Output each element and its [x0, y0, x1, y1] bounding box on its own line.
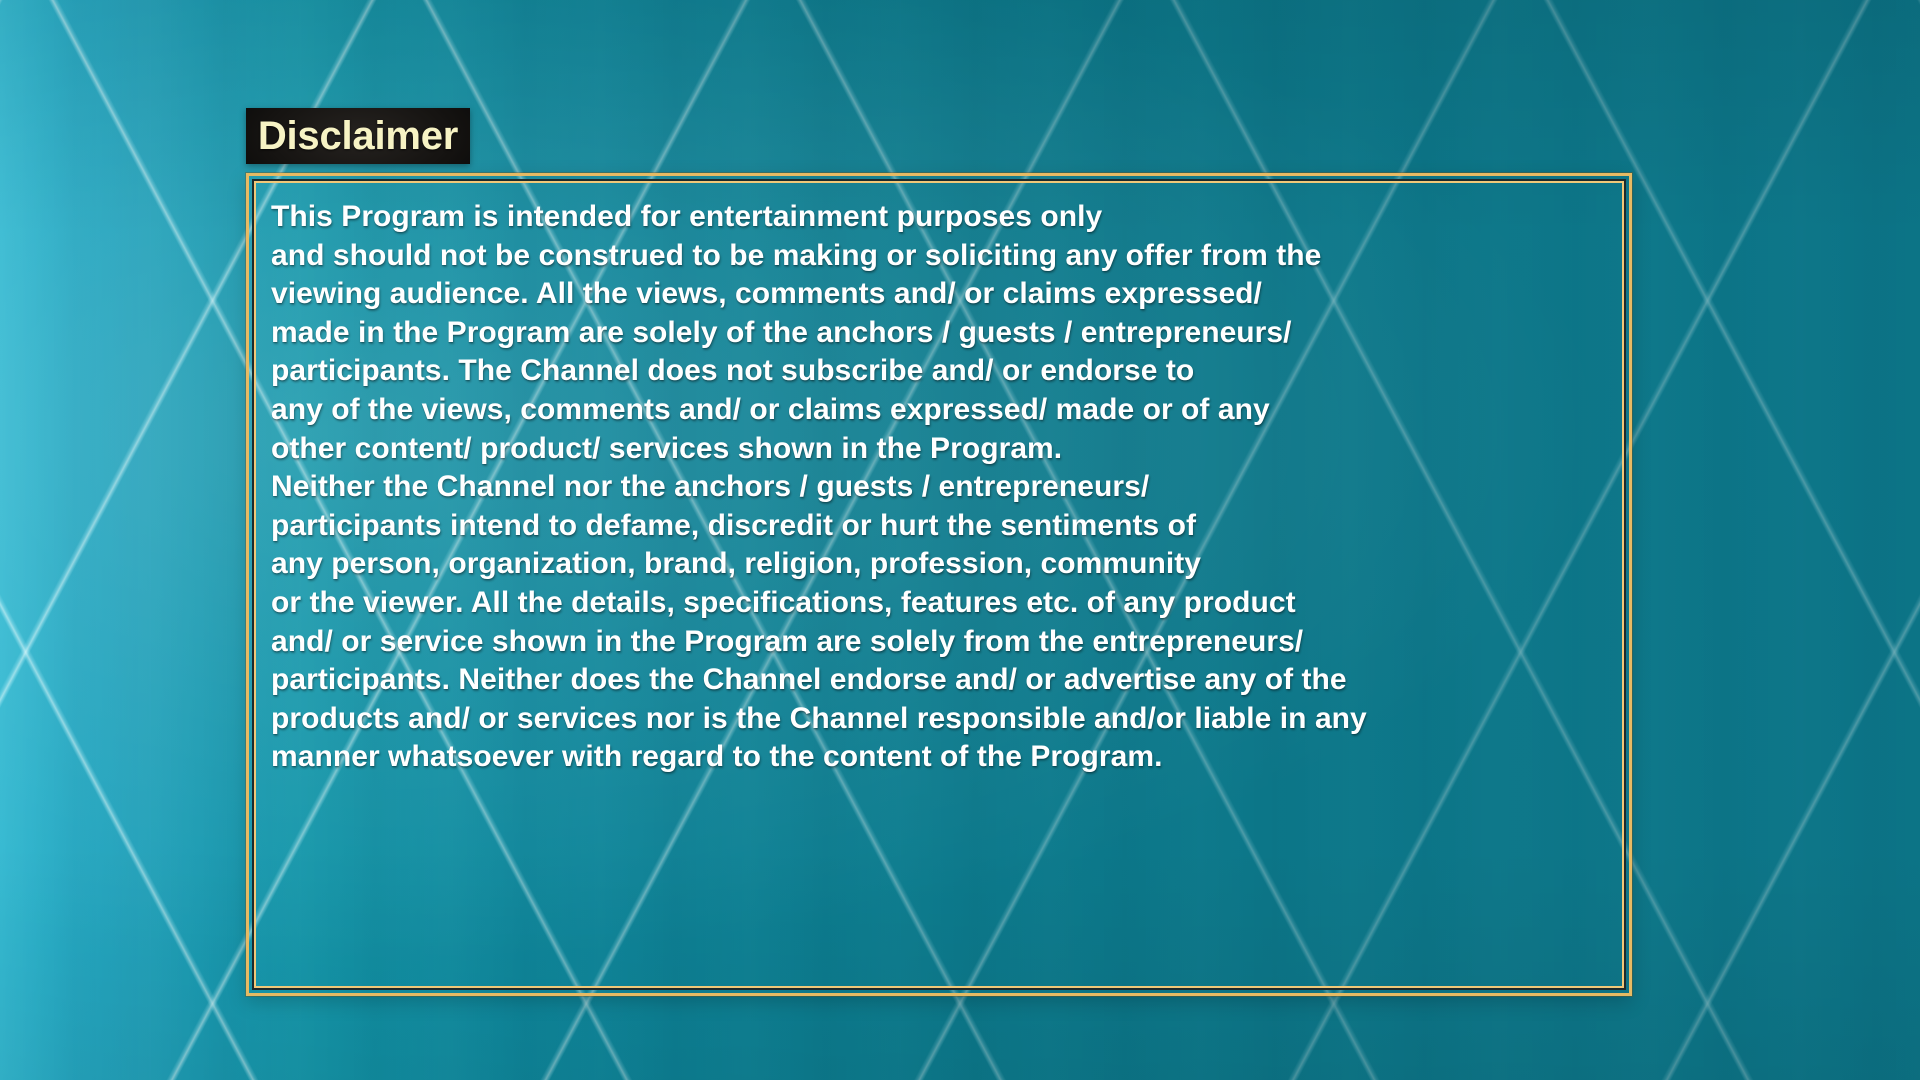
disclaimer-title-tab: Disclaimer — [246, 108, 470, 164]
disclaimer-line: any of the views, comments and/ or claim… — [271, 391, 1611, 430]
page-title: Disclaimer — [258, 116, 458, 156]
disclaimer-line: made in the Program are solely of the an… — [271, 314, 1611, 353]
disclaimer-line: and should not be construed to be making… — [271, 237, 1611, 276]
disclaimer-text-block: This Program is intended for entertainme… — [271, 198, 1611, 977]
disclaimer-line: viewing audience. All the views, comment… — [271, 275, 1611, 314]
disclaimer-line: other content/ product/ services shown i… — [271, 430, 1611, 469]
disclaimer-line: and/ or service shown in the Program are… — [271, 623, 1611, 662]
disclaimer-line: participants. The Channel does not subsc… — [271, 352, 1611, 391]
disclaimer-line: any person, organization, brand, religio… — [271, 545, 1611, 584]
disclaimer-line: Neither the Channel nor the anchors / gu… — [271, 468, 1611, 507]
disclaimer-line: participants intend to defame, discredit… — [271, 507, 1611, 546]
disclaimer-line: or the viewer. All the details, specific… — [271, 584, 1611, 623]
disclaimer-slide: Disclaimer This Program is intended for … — [0, 0, 1920, 1080]
disclaimer-panel: This Program is intended for entertainme… — [246, 173, 1632, 996]
disclaimer-line: This Program is intended for entertainme… — [271, 198, 1611, 237]
disclaimer-line: manner whatsoever with regard to the con… — [271, 738, 1611, 777]
disclaimer-line: products and/ or services nor is the Cha… — [271, 700, 1611, 739]
disclaimer-line: participants. Neither does the Channel e… — [271, 661, 1611, 700]
